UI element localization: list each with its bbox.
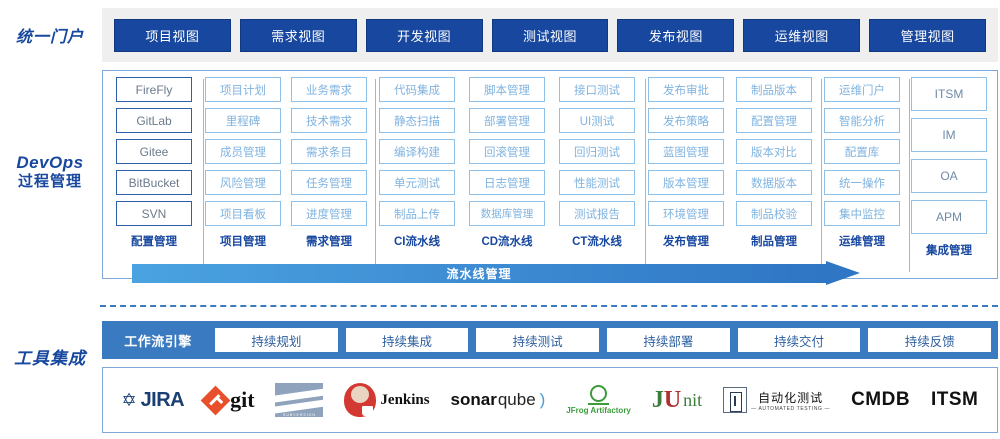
sonarqube-logo[interactable]: sonar qube ) <box>451 390 546 410</box>
jenkins-logo[interactable]: Jenkins <box>344 383 429 417</box>
portal-view-button[interactable]: 发布视图 <box>617 19 734 52</box>
grid-cell[interactable]: APM <box>911 200 987 234</box>
jfrog-logo-text: JFrog Artifactory <box>566 406 631 415</box>
junit-logo-u: U <box>664 387 681 414</box>
grid-column-caption: 需求管理 <box>306 233 352 249</box>
portal-view-button[interactable]: 需求视图 <box>240 19 357 52</box>
grid-column-project-management: 项目计划 里程碑 成员管理 风险管理 项目看板 项目管理 <box>200 77 286 274</box>
grid-cell[interactable]: BitBucket <box>116 170 192 195</box>
grid-cell[interactable]: UI测试 <box>559 108 635 133</box>
workflow-stage[interactable]: 持续部署 <box>607 328 730 352</box>
grid-column-caption: 发布管理 <box>663 233 709 249</box>
automated-testing-icon <box>723 387 747 413</box>
grid-cell[interactable]: 接口测试 <box>559 77 635 102</box>
portal-view-button[interactable]: 项目视图 <box>114 19 231 52</box>
grid-cell[interactable]: 里程碑 <box>205 108 281 133</box>
grid-column-release-management: 发布审批 发布策略 蓝图管理 版本管理 环境管理 发布管理 <box>642 77 730 274</box>
grid-cell[interactable]: 环境管理 <box>648 201 724 226</box>
automated-testing-text-en: — AUTOMATED TESTING — <box>751 406 830 412</box>
cmdb-logo-text: CMDB <box>851 389 910 411</box>
subversion-logo-text: SUBVERSION <box>275 413 323 417</box>
grid-cell[interactable]: GitLab <box>116 108 192 133</box>
grid-column-caption: 配置管理 <box>131 233 177 249</box>
git-logo[interactable]: git <box>205 387 254 413</box>
jenkins-logo-text: Jenkins <box>380 392 429 409</box>
grid-cell[interactable]: 配置库 <box>824 139 900 164</box>
jfrog-ring-icon <box>590 385 607 402</box>
workflow-stage[interactable]: 持续规划 <box>215 328 338 352</box>
grid-cell[interactable]: 测试报告 <box>559 201 635 226</box>
junit-logo-j: J <box>652 387 664 414</box>
grid-cell[interactable]: 代码集成 <box>379 77 455 102</box>
junit-logo[interactable]: J U nit <box>652 387 702 414</box>
grid-cell[interactable]: 性能测试 <box>559 170 635 195</box>
grid-cell[interactable]: 发布审批 <box>648 77 724 102</box>
grid-cell[interactable]: 单元测试 <box>379 170 455 195</box>
junit-logo-nit: nit <box>683 390 702 411</box>
grid-cell[interactable]: 回归测试 <box>559 139 635 164</box>
tool-logos-band: ✡ JIRA git SUBVERSION Jenkins sonar qube… <box>102 367 998 433</box>
grid-cell[interactable]: 数据版本 <box>736 170 812 195</box>
sonarqube-wave-icon: ) <box>540 390 546 410</box>
grid-cell[interactable]: 统一操作 <box>824 170 900 195</box>
workflow-engine-title: 工作流引擎 <box>109 331 207 350</box>
rail-label-devops-line1: DevOps <box>0 152 100 173</box>
subversion-logo[interactable]: SUBVERSION <box>275 383 323 417</box>
rail-label-tools: 工具集成 <box>0 348 100 369</box>
grid-cell[interactable]: 风险管理 <box>205 170 281 195</box>
grid-cell[interactable]: 部署管理 <box>469 108 545 133</box>
grid-cell[interactable]: 发布策略 <box>648 108 724 133</box>
grid-column-caption: CD流水线 <box>481 233 532 249</box>
grid-column-artifact-management: 制品版本 配置管理 版本对比 数据版本 制品校验 制品管理 <box>730 77 818 274</box>
grid-cell[interactable]: 日志管理 <box>469 170 545 195</box>
sonarqube-logo-text-bold: sonar <box>451 390 497 410</box>
automated-testing-logo[interactable]: 自动化测试 — AUTOMATED TESTING — <box>723 387 830 413</box>
grid-column-ci-pipeline: 代码集成 静态扫描 编译构建 单元测试 制品上传 CI流水线 <box>372 77 462 274</box>
git-logo-text: git <box>230 387 254 413</box>
grid-column-caption: 项目管理 <box>220 233 266 249</box>
sonarqube-logo-text-light: qube <box>498 390 536 410</box>
portal-view-band: 项目视图 需求视图 开发视图 测试视图 发布视图 运维视图 管理视图 <box>102 8 998 62</box>
grid-column-ops-management: 运维门户 智能分析 配置库 统一操作 集中监控 运维管理 <box>818 77 906 274</box>
rail-label-devops-line2: 过程管理 <box>0 173 100 192</box>
grid-cell[interactable]: OA <box>911 159 987 193</box>
workflow-engine-band: 工作流引擎 持续规划 持续集成 持续测试 持续部署 持续交付 持续反馈 <box>102 321 998 359</box>
portal-view-button[interactable]: 运维视图 <box>743 19 860 52</box>
workflow-stage[interactable]: 持续反馈 <box>868 328 991 352</box>
grid-cell[interactable]: 运维门户 <box>824 77 900 102</box>
grid-cell[interactable]: 智能分析 <box>824 108 900 133</box>
portal-view-button[interactable]: 开发视图 <box>366 19 483 52</box>
rail-label-devops: DevOps 过程管理 <box>0 152 100 192</box>
grid-cell[interactable]: 制品上传 <box>379 201 455 226</box>
pipeline-management-arrow: 流水线管理 <box>132 264 860 283</box>
grid-cell[interactable]: 数据库管理 <box>469 201 545 226</box>
grid-cell[interactable]: FireFly <box>116 77 192 102</box>
grid-column-caption: CT流水线 <box>572 233 622 249</box>
grid-cell[interactable]: 配置管理 <box>736 108 812 133</box>
jfrog-bar-icon <box>588 403 609 405</box>
jira-logo[interactable]: ✡ JIRA <box>121 389 184 412</box>
grid-cell[interactable]: 蓝图管理 <box>648 139 724 164</box>
grid-cell[interactable]: 集中监控 <box>824 201 900 226</box>
jira-mark-icon: ✡ <box>121 391 136 409</box>
grid-column-caption: 集成管理 <box>926 242 972 258</box>
arrow-head-icon <box>826 261 860 285</box>
itsm-logo[interactable]: ITSM <box>931 389 978 411</box>
portal-view-button[interactable]: 测试视图 <box>492 19 609 52</box>
grid-cell[interactable]: 成员管理 <box>205 139 281 164</box>
grid-column-caption: 运维管理 <box>839 233 885 249</box>
grid-cell[interactable]: 脚本管理 <box>469 77 545 102</box>
grid-cell[interactable]: 制品校验 <box>736 201 812 226</box>
grid-cell[interactable]: 编译构建 <box>379 139 455 164</box>
grid-cell[interactable]: 业务需求 <box>291 77 367 102</box>
workflow-stage[interactable]: 持续集成 <box>346 328 469 352</box>
portal-view-button[interactable]: 管理视图 <box>869 19 986 52</box>
grid-cell[interactable]: 项目计划 <box>205 77 281 102</box>
grid-cell[interactable]: IM <box>911 118 987 152</box>
grid-cell[interactable]: 静态扫描 <box>379 108 455 133</box>
grid-cell[interactable]: ITSM <box>911 77 987 111</box>
itsm-logo-text: ITSM <box>931 389 978 411</box>
grid-cell[interactable]: Gitee <box>116 139 192 164</box>
grid-column-integration-management: ITSM IM OA APM 集成管理 <box>906 77 992 274</box>
grid-column-cd-pipeline: 脚本管理 部署管理 回滚管理 日志管理 数据库管理 CD流水线 <box>462 77 552 274</box>
grid-cell[interactable]: 进度管理 <box>291 201 367 226</box>
devops-capability-grid: FireFly GitLab Gitee BitBucket SVN 配置管理 … <box>102 70 998 279</box>
jira-logo-text: JIRA <box>141 389 185 412</box>
grid-column-caption: 制品管理 <box>751 233 797 249</box>
cmdb-logo[interactable]: CMDB <box>851 389 910 411</box>
section-divider <box>100 305 998 307</box>
grid-cell[interactable]: 回滚管理 <box>469 139 545 164</box>
grid-column-ct-pipeline: 接口测试 UI测试 回归测试 性能测试 测试报告 CT流水线 <box>552 77 642 274</box>
grid-cell[interactable]: SVN <box>116 201 192 226</box>
grid-column-caption: CI流水线 <box>394 233 440 249</box>
jfrog-artifactory-logo[interactable]: JFrog Artifactory <box>566 385 631 415</box>
workflow-stage[interactable]: 持续测试 <box>476 328 599 352</box>
rail-label-portal: 统一门户 <box>0 28 100 48</box>
devops-platform-architecture-diagram: 统一门户 DevOps 过程管理 工具集成 项目视图 需求视图 开发视图 测试视… <box>0 0 1000 439</box>
grid-cell[interactable]: 技术需求 <box>291 108 367 133</box>
grid-cell[interactable]: 任务管理 <box>291 170 367 195</box>
git-diamond-icon <box>201 385 231 415</box>
grid-column-config-management: FireFly GitLab Gitee BitBucket SVN 配置管理 <box>108 77 200 274</box>
pipeline-arrow-label: 流水线管理 <box>132 264 826 283</box>
grid-cell[interactable]: 制品版本 <box>736 77 812 102</box>
grid-cell[interactable]: 项目看板 <box>205 201 281 226</box>
grid-cell[interactable]: 版本对比 <box>736 139 812 164</box>
workflow-stage[interactable]: 持续交付 <box>738 328 861 352</box>
automated-testing-text-cn: 自动化测试 <box>758 389 823 406</box>
jenkins-butler-icon <box>344 383 376 417</box>
subversion-mark-icon: SUBVERSION <box>275 383 323 417</box>
grid-cell[interactable]: 版本管理 <box>648 170 724 195</box>
grid-cell[interactable]: 需求条目 <box>291 139 367 164</box>
grid-column-requirement-management: 业务需求 技术需求 需求条目 任务管理 进度管理 需求管理 <box>286 77 372 274</box>
